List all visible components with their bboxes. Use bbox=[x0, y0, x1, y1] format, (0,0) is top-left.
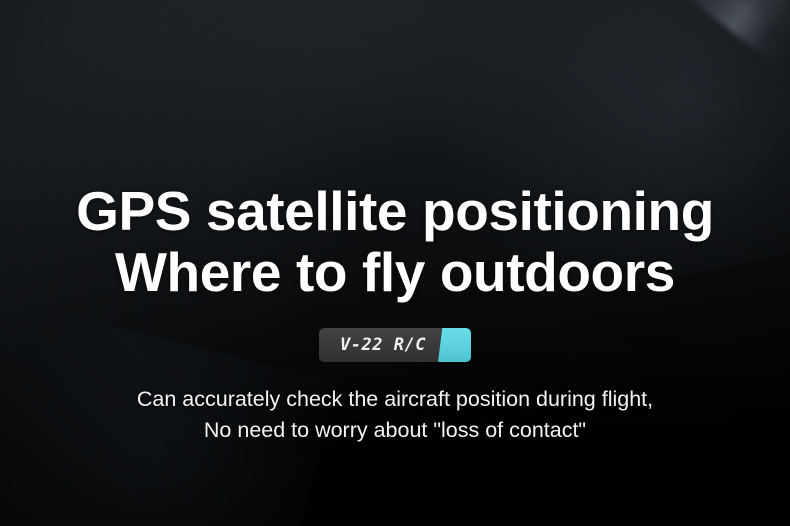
headline: GPS satellite positioning Where to fly o… bbox=[76, 181, 714, 303]
headline-line-1: GPS satellite positioning bbox=[76, 181, 714, 242]
headline-line-2: Where to fly outdoors bbox=[76, 242, 714, 303]
subtitle-line-1: Can accurately check the aircraft positi… bbox=[137, 384, 653, 415]
model-badge: V-22 R/C bbox=[319, 328, 471, 362]
banner-content: GPS satellite positioning Where to fly o… bbox=[0, 0, 790, 526]
model-badge-label: V-22 R/C bbox=[319, 328, 451, 362]
subtitle: Can accurately check the aircraft positi… bbox=[137, 384, 653, 446]
product-feature-banner: GPS satellite positioning Where to fly o… bbox=[0, 0, 790, 526]
subtitle-line-2: No need to worry about "loss of contact" bbox=[137, 415, 653, 446]
